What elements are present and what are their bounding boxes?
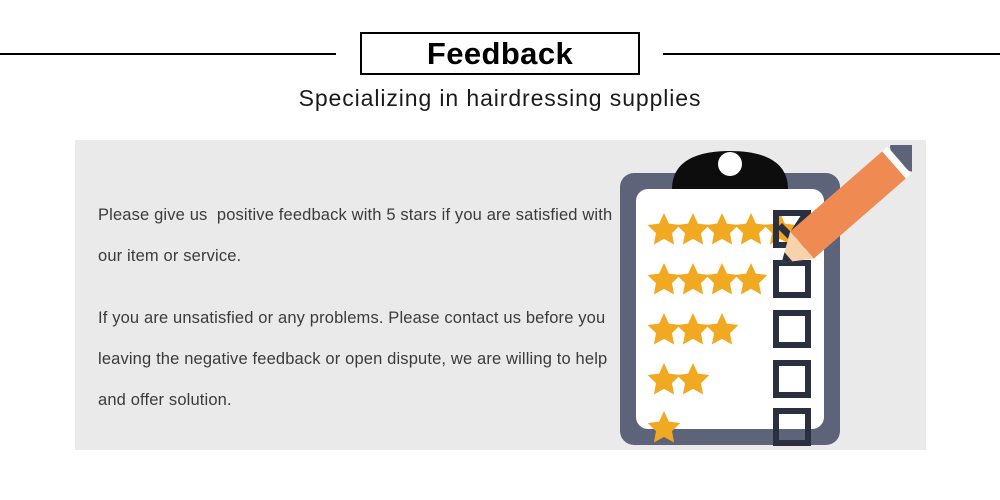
- feedback-paragraph-1: Please give us positive feedback with 5 …: [98, 195, 618, 277]
- feedback-copy: Please give us positive feedback with 5 …: [98, 195, 618, 421]
- page-title: Feedback: [427, 38, 573, 69]
- page-header: Feedback Specializing in hairdressing su…: [0, 0, 1000, 130]
- header-rule-right: [663, 53, 1000, 55]
- feedback-paragraph-2: If you are unsatisfied or any problems. …: [98, 298, 618, 421]
- header-rule-left: [0, 53, 336, 55]
- page-subtitle: Specializing in hairdressing supplies: [0, 85, 1000, 112]
- feedback-panel: Please give us positive feedback with 5 …: [75, 140, 926, 450]
- clipboard-rating-icon: [612, 145, 912, 450]
- page-title-box: Feedback: [360, 32, 640, 75]
